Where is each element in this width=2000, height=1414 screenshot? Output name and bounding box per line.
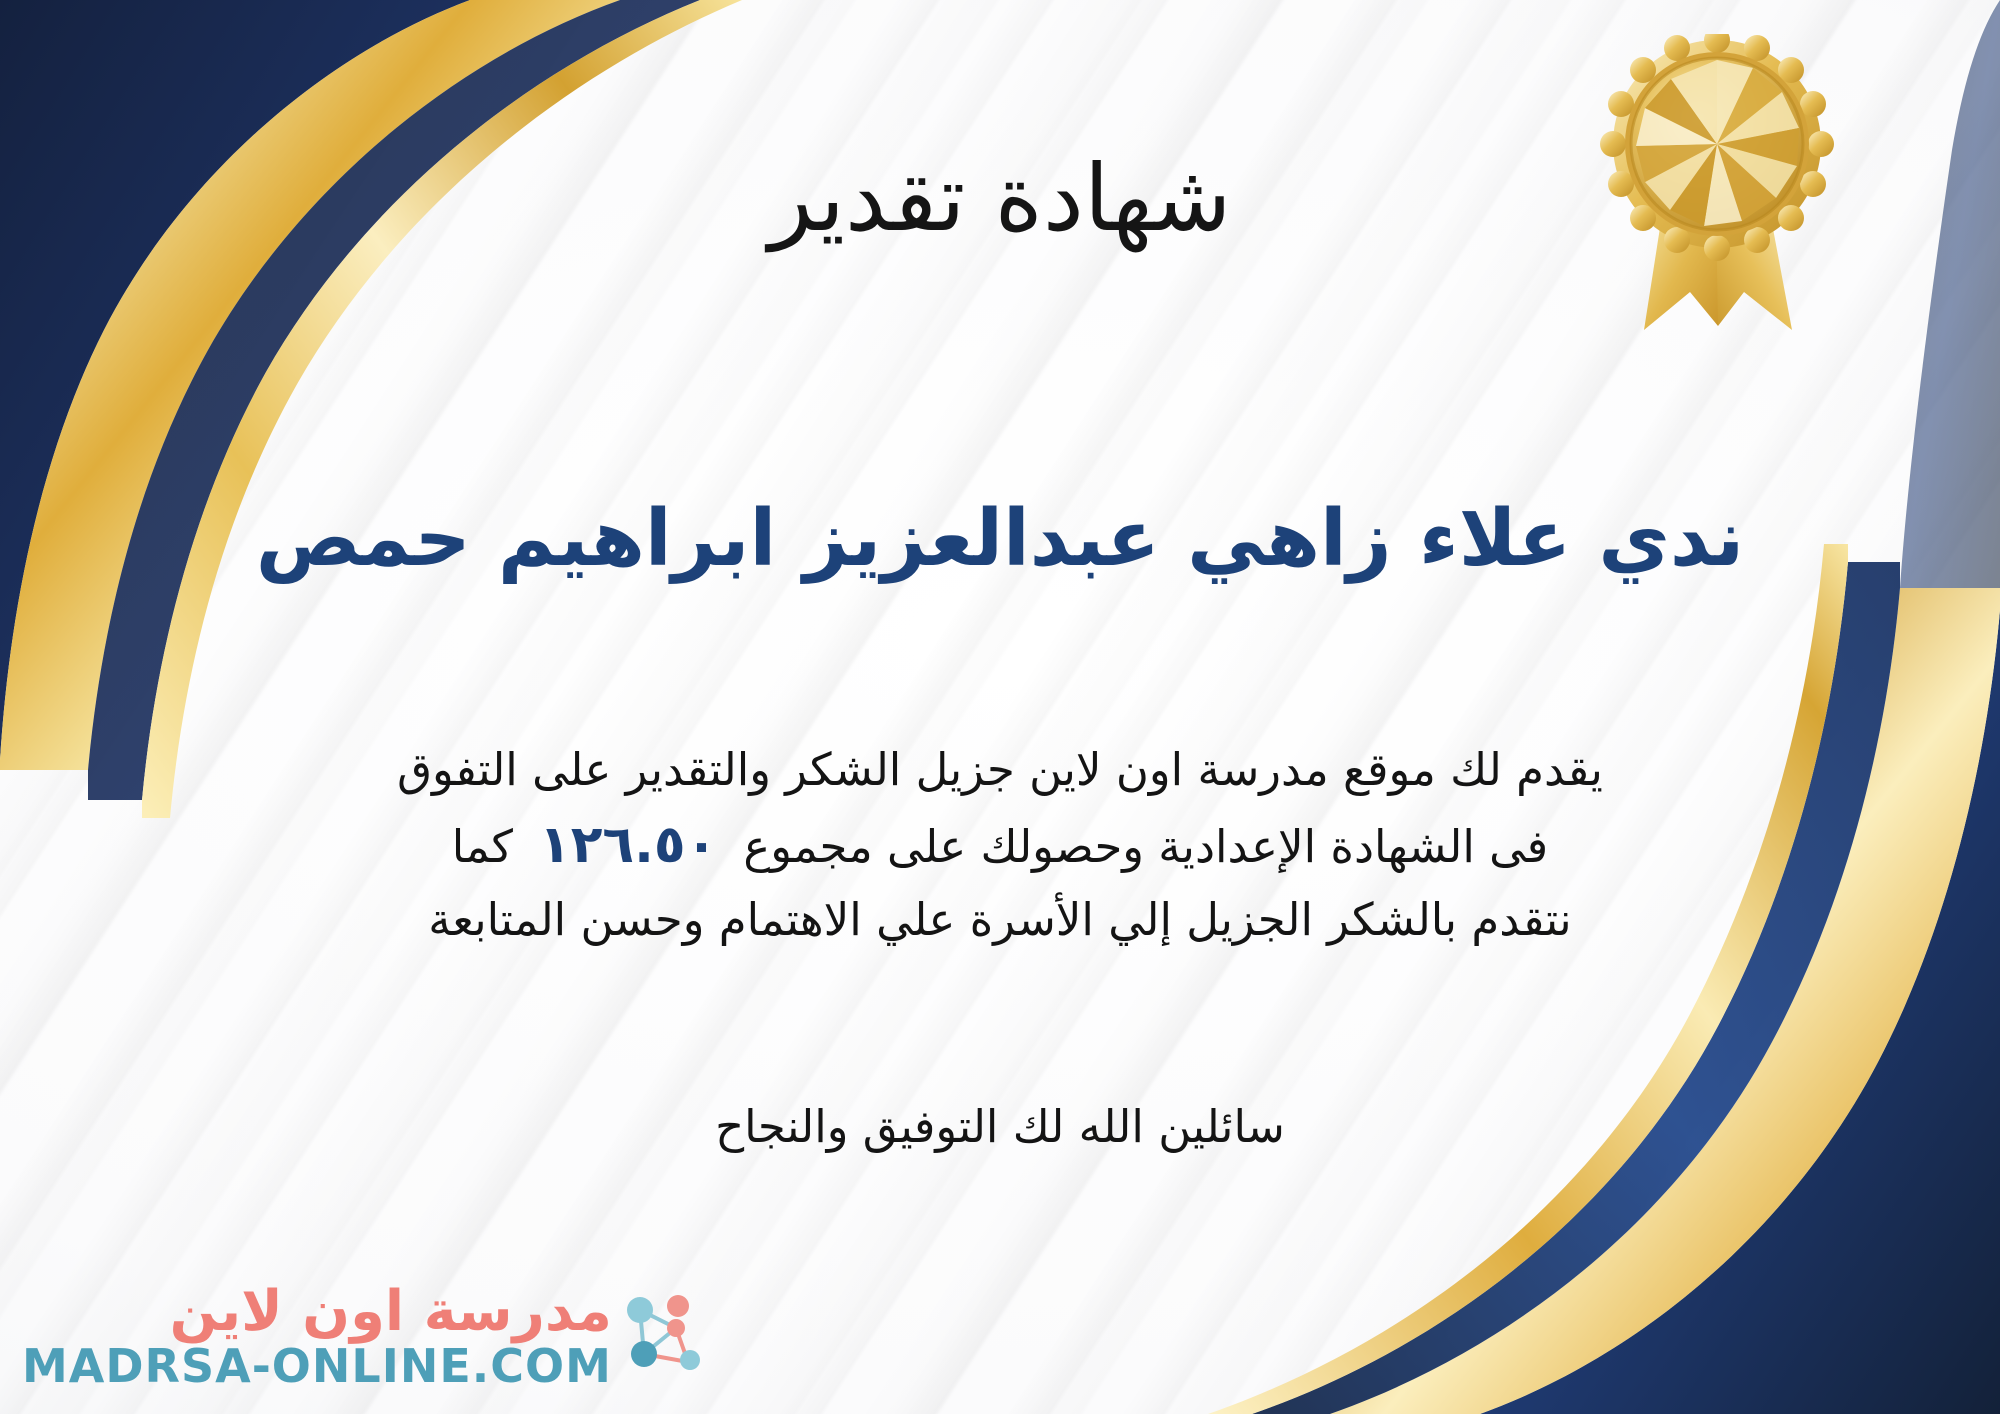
total-score-value: ١٢٦.٥٠ [513, 815, 743, 875]
certificate-content: شهادة تقدير ندي علاء زاهي عبدالعزيز ابرا… [0, 0, 2000, 1414]
body-line-2-prefix: فى الشهادة الإعدادية وحصولك على مجموع [743, 820, 1548, 873]
body-line-2: فى الشهادة الإعدادية وحصولك على مجموع١٢٦… [60, 805, 1940, 886]
body-line-1: يقدم لك موقع مدرسة اون لاين جزيل الشكر و… [60, 735, 1940, 805]
body-text: يقدم لك موقع مدرسة اون لاين جزيل الشكر و… [60, 735, 1940, 955]
brand-logo-text: مدرسة اون لاين MADRSA-ONLINE.COM [22, 1283, 612, 1392]
brand-name-arabic: مدرسة اون لاين [170, 1283, 612, 1342]
page-title: شهادة تقدير [0, 148, 2000, 249]
closing-wish: سائلين الله لك التوفيق والنجاح [0, 1100, 2000, 1153]
brand-website-url: MADRSA-ONLINE.COM [22, 1341, 612, 1392]
brand-logo[interactable]: مدرسة اون لاين MADRSA-ONLINE.COM [22, 1283, 704, 1392]
network-nodes-icon [618, 1288, 704, 1380]
recipient-name: ندي علاء زاهي عبدالعزيز ابراهيم حمص [0, 495, 2000, 585]
body-line-3: نتقدم بالشكر الجزيل إلي الأسرة علي الاهت… [60, 885, 1940, 955]
body-line-2-suffix: كما [452, 820, 513, 873]
certificate-canvas: شهادة تقدير ندي علاء زاهي عبدالعزيز ابرا… [0, 0, 2000, 1414]
